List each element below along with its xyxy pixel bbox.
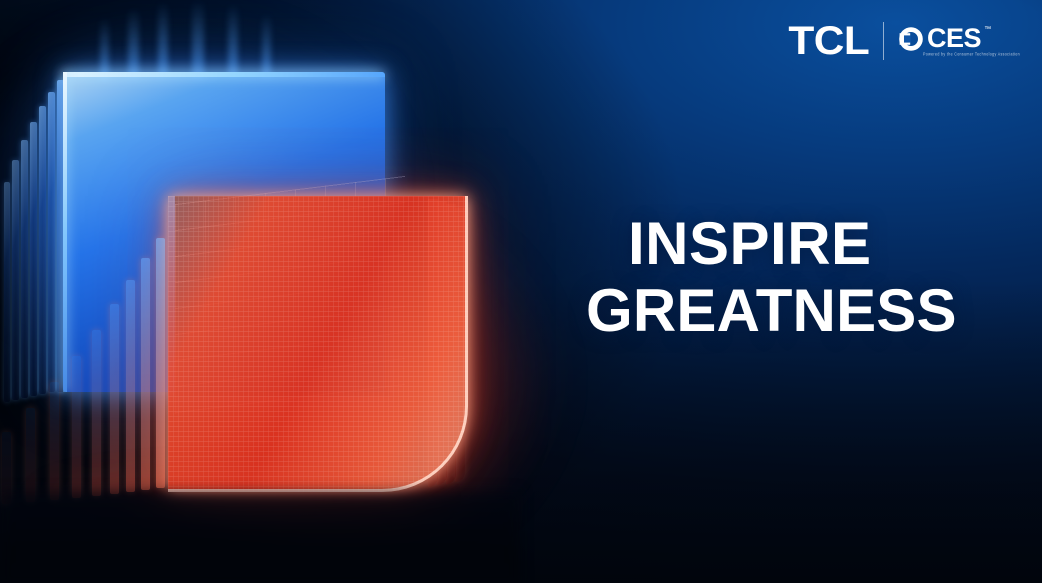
campaign-headline: INSPIRE GREATNESS [628,214,1028,341]
ces-logo: CES ™ Powered by the Consumer Technology… [898,25,1020,57]
tcl-logo: TCL [788,21,869,61]
headline-line-1: INSPIRE [628,214,1028,273]
vertical-divider-icon [883,22,884,60]
ces-c-mark-icon [898,26,924,52]
ces-wordmark: CES [927,25,981,52]
ces-campaign-banner: TCL CES ™ Powered by the Consumer Techno… [0,0,1042,583]
ces-trademark-symbol: ™ [984,26,991,33]
brand-logo-lockup: TCL CES ™ Powered by the Consumer Techno… [793,18,1020,64]
headline-line-2: GREATNESS [586,281,1028,340]
ces-tagline: Powered by the Consumer Technology Assoc… [898,53,1020,57]
ces-logo-row: CES ™ [898,25,991,52]
